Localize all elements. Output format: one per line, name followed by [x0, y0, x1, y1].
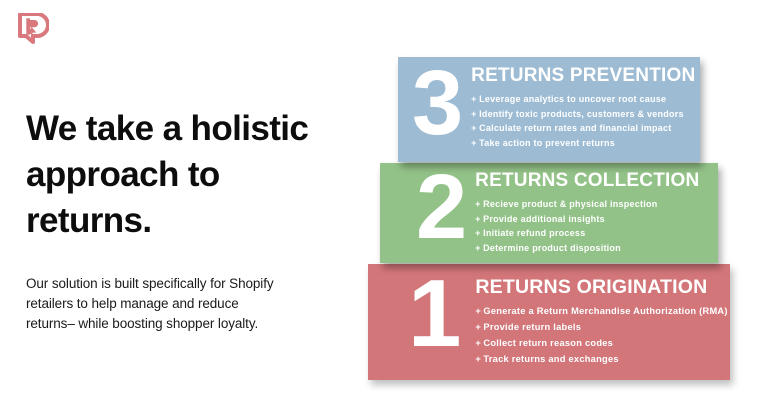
step-card-body: RETURNS COLLECTION +Recieve product & ph…	[475, 170, 699, 255]
step-card-returns-origination[interactable]: 1 RETURNS ORIGINATION +Generate a Return…	[368, 264, 730, 380]
slide-canvas: We take a holistic approach to returns. …	[0, 0, 768, 400]
bullet-text: Calculate return rates and financial imp…	[479, 123, 671, 133]
bullet-text: Take action to prevent returns	[479, 138, 615, 148]
plus-icon: +	[471, 121, 479, 136]
bullet-text: Identify toxic products, customers & ven…	[479, 109, 684, 119]
step-card-title: RETURNS ORIGINATION	[475, 276, 727, 298]
bullet-text: Recieve product & physical inspection	[483, 199, 657, 209]
plus-icon: +	[475, 226, 483, 241]
list-item: +Provide additional insights	[475, 212, 699, 227]
step-numeral: 2	[416, 168, 463, 246]
bullet-text: Leverage analytics to uncover root cause	[479, 94, 666, 104]
list-item: +Take action to prevent returns	[471, 136, 695, 151]
step-bullet-list: +Leverage analytics to uncover root caus…	[471, 92, 695, 150]
plus-icon: +	[471, 92, 479, 107]
plus-icon: +	[471, 136, 479, 151]
step-numeral: 1	[408, 275, 457, 353]
step-card-body: RETURNS ORIGINATION +Generate a Return M…	[475, 276, 727, 367]
plus-icon: +	[475, 241, 483, 256]
step-card-returns-prevention[interactable]: 3 RETURNS PREVENTION +Leverage analytics…	[398, 57, 700, 162]
plus-icon: +	[475, 212, 483, 227]
step-card-inner: 3 RETURNS PREVENTION +Leverage analytics…	[398, 57, 700, 162]
step-card-inner: 2 RETURNS COLLECTION +Recieve product & …	[380, 163, 718, 263]
list-item: +Determine product disposition	[475, 241, 699, 256]
plus-icon: +	[471, 107, 479, 122]
bullet-text: Collect return reason codes	[483, 338, 613, 348]
step-card-title: RETURNS PREVENTION	[471, 65, 695, 87]
bullet-text: Determine product disposition	[483, 243, 621, 253]
bullet-text: Generate a Return Merchandise Authorizat…	[483, 306, 727, 316]
step-card-inner: 1 RETURNS ORIGINATION +Generate a Return…	[368, 264, 730, 380]
list-item: +Generate a Return Merchandise Authoriza…	[475, 303, 727, 319]
step-numeral: 3	[412, 64, 459, 142]
bullet-text: Provide additional insights	[483, 214, 605, 224]
list-item: +Leverage analytics to uncover root caus…	[471, 92, 695, 107]
bullet-text: Track returns and exchanges	[483, 354, 618, 364]
step-bullet-list: +Generate a Return Merchandise Authoriza…	[475, 303, 727, 367]
bullet-text: Initiate refund process	[483, 228, 585, 238]
list-item: +Recieve product & physical inspection	[475, 197, 699, 212]
step-card-title: RETURNS COLLECTION	[475, 170, 699, 192]
step-bullet-list: +Recieve product & physical inspection +…	[475, 197, 699, 255]
list-item: +Identify toxic products, customers & ve…	[471, 107, 695, 122]
list-item: +Track returns and exchanges	[475, 351, 727, 367]
list-item: +Provide return labels	[475, 319, 727, 335]
list-item: +Calculate return rates and financial im…	[471, 121, 695, 136]
bullet-text: Provide return labels	[483, 322, 581, 332]
list-item: +Initiate refund process	[475, 226, 699, 241]
step-card-returns-collection[interactable]: 2 RETURNS COLLECTION +Recieve product & …	[380, 163, 718, 263]
plus-icon: +	[475, 197, 483, 212]
step-card-body: RETURNS PREVENTION +Leverage analytics t…	[471, 65, 695, 150]
list-item: +Collect return reason codes	[475, 335, 727, 351]
returns-process-stack: 3 RETURNS PREVENTION +Leverage analytics…	[0, 0, 768, 400]
